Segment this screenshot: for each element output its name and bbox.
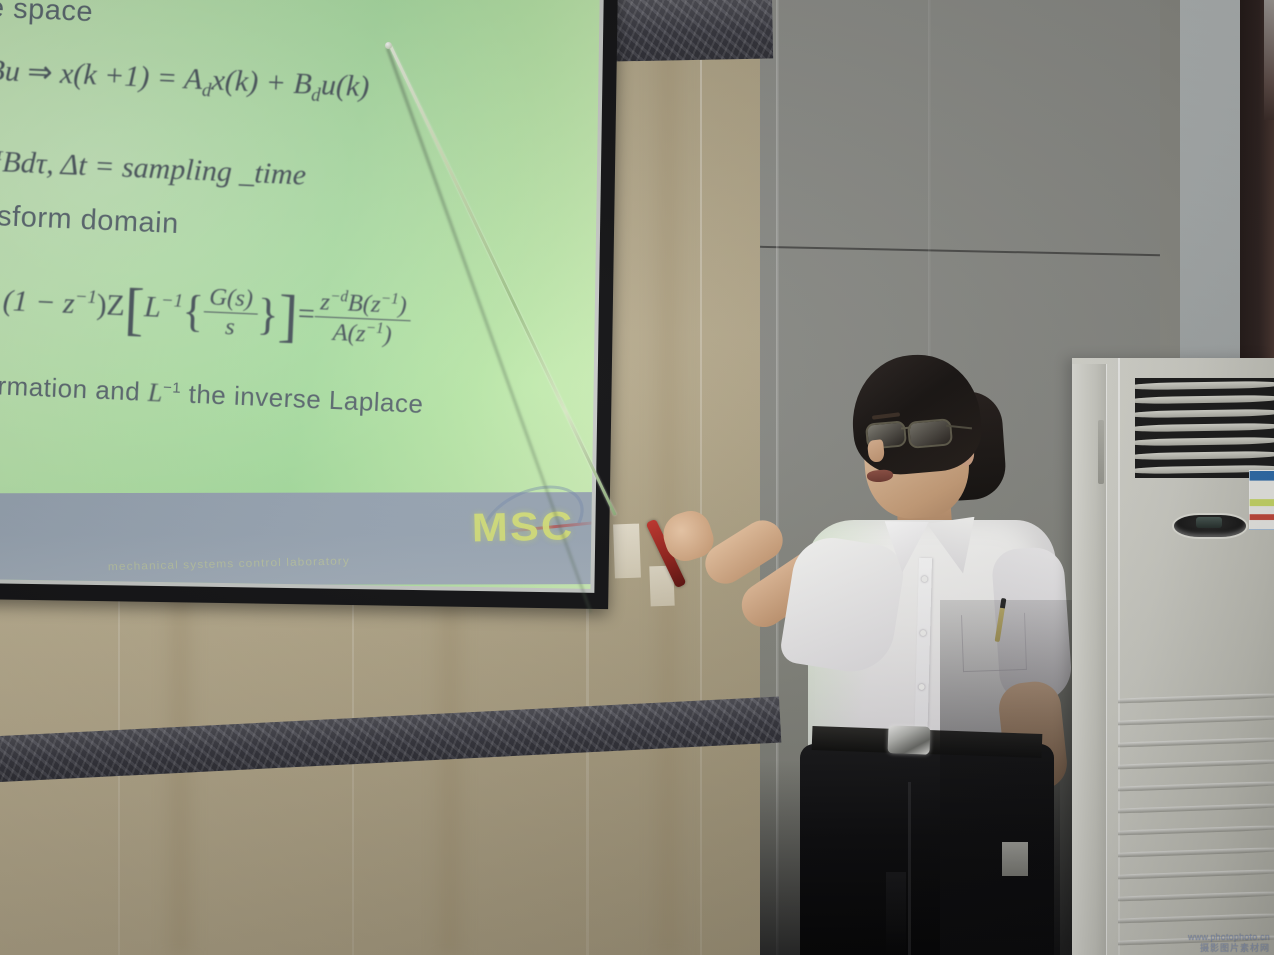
rhs-num-B: B(z	[347, 290, 381, 318]
caption-L-sup: −1	[163, 379, 182, 397]
caption-post: the inverse Laplace	[188, 379, 424, 419]
rhs-num-close: )	[398, 292, 407, 319]
eq3-L-sup: −1	[161, 290, 184, 312]
eq1-A-sub: d	[201, 80, 211, 101]
slide-caption: nsformation and L−1 the inverse Laplace	[0, 368, 600, 428]
fraction-denominator: s	[202, 312, 257, 342]
air-conditioner-lower-grille	[1118, 690, 1274, 955]
hair	[847, 350, 985, 479]
energy-efficiency-label	[1249, 470, 1274, 530]
eq1-A: A	[183, 62, 203, 96]
slide-footer-band: mechanical systems control laboratory MS…	[0, 492, 600, 585]
slide-equation-ztransform: z−1) = (1 − z−1)Z[L−1{G(s)s}]=z−dB(z−1)A…	[0, 266, 600, 363]
projection-screen: ate space x + Bu ⇒ x(k +1) = Adx(k) + Bd…	[0, 0, 618, 609]
rhs-denominator: A(z−1)	[313, 317, 411, 350]
eq3-L: L	[143, 290, 161, 324]
door-highlight	[1264, 0, 1274, 120]
rhs-numerator: z−dB(z−1)	[315, 287, 413, 321]
trouser-crease	[908, 782, 911, 955]
fraction-B-over-A: z−dB(z−1)A(z−1)	[313, 287, 412, 351]
watermark: www.photophoto.cn 摄影图片素材网	[1188, 932, 1270, 953]
pointer-tip-icon	[385, 42, 392, 49]
watermark-url: www.photophoto.cn	[1188, 932, 1270, 942]
rhs-den-A: A(z	[332, 319, 366, 347]
photo-scene: ate space x + Bu ⇒ x(k +1) = Adx(k) + Bd…	[0, 0, 1274, 955]
eq2-body: Bdτ,	[2, 145, 55, 180]
fraction-G-over-s: G(s)s	[202, 283, 258, 342]
brace-open: {	[181, 285, 204, 337]
shirt-button	[920, 630, 926, 636]
slide-heading-state-space: ate space	[0, 0, 600, 53]
rhs-den-sup: −1	[365, 319, 384, 337]
trouser-inseam-shadow	[886, 872, 906, 955]
slide-text-block: ate space x + Bu ⇒ x(k +1) = Adx(k) + Bd…	[0, 0, 600, 428]
eq1-lead: x + Bu	[0, 51, 21, 88]
shirt-button	[919, 684, 925, 690]
eq1-implies: ⇒	[27, 55, 54, 89]
watermark-subtitle: 摄影图片素材网	[1188, 943, 1270, 953]
rhs-num-sup: −d	[330, 288, 349, 306]
slide-equation-state-space: x + Bu ⇒ x(k +1) = Adx(k) + Bdu(k)	[0, 50, 600, 120]
air-conditioner-intake-grille	[1135, 378, 1274, 478]
right-wall-panel	[1180, 0, 1240, 378]
eq1-uk: u(k)	[320, 68, 370, 103]
belt-buckle	[888, 725, 931, 754]
fraction-numerator: G(s)	[204, 283, 259, 314]
shirt-button	[921, 576, 927, 582]
eq3-lhs-tail: ) = (1 − z	[0, 282, 75, 320]
caption-pre: nsformation and	[0, 368, 141, 406]
wall-outlet-plate	[1002, 842, 1028, 876]
rhs-den-close: )	[383, 321, 392, 348]
air-conditioner-display-led	[1196, 517, 1222, 528]
eq3-equals: =	[297, 297, 315, 331]
rhs-num-Bsup: −1	[380, 290, 399, 308]
eq2-sampling: sampling _time	[121, 151, 306, 192]
wall-paper-note-a	[613, 524, 641, 579]
eq2-delta: Δt =	[60, 148, 115, 183]
eq1-rhs: x(k +1) =	[59, 57, 177, 95]
eq3-mid: )Z	[96, 288, 126, 322]
eq1-xk: x(k) +	[211, 63, 287, 99]
air-conditioner-side-slot	[1098, 420, 1104, 484]
screen-inner-border: ate space x + Bu ⇒ x(k +1) = Adx(k) + Bd…	[0, 0, 604, 593]
bracket-open: [	[123, 275, 145, 343]
brace-close: }	[256, 289, 279, 341]
eq1-B: B	[293, 67, 313, 101]
bracket-close: ]	[277, 282, 299, 350]
msc-logo-subtitle: mechanical systems control laboratory	[108, 552, 478, 573]
eq3-mid-sup: −1	[75, 286, 98, 308]
eyeglasses-right-lens	[907, 418, 953, 449]
caption-L: L	[147, 378, 163, 408]
